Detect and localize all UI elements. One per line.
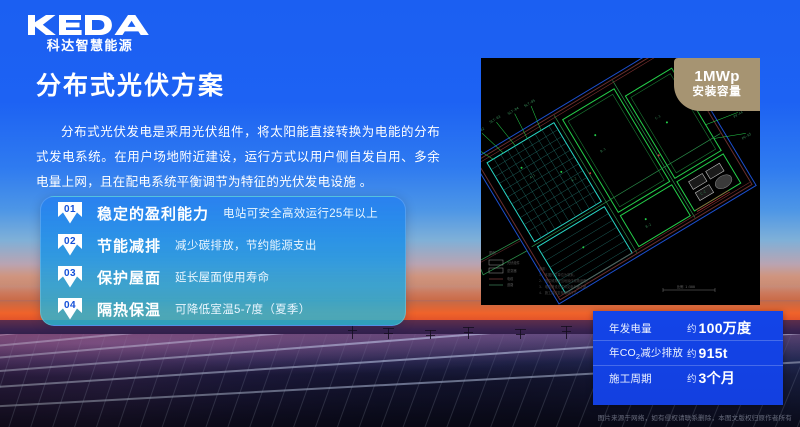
stat-value: 100万度 [699,318,752,338]
feature-number: 01 [57,204,83,215]
watermark-text: 图片来源于网络，如有侵权请联系删除，本图文版权归原作者所有 [598,412,792,422]
feature-row: 02节能减排减少碳排放，节约能源支出 [41,229,405,261]
svg-text:2. 组件倾角按当地最佳倾角设置。: 2. 组件倾角按当地最佳倾角设置。 [539,278,589,283]
pylon-icon [468,327,469,339]
stat-row: 施工周期约3个月 [593,366,783,390]
feature-title: 保护屋面 [97,267,161,288]
svg-text:图例: 图例 [489,250,496,255]
svg-text:道路: 道路 [507,282,514,287]
cad-site-plan[interactable]: SLT-01SLT-02 SLT-03SLT-04 SLT-05 PV-A1PV… [481,58,760,305]
feature-number-badge-icon: 04 [57,297,83,321]
feature-row: 01稳定的盈利能力电站可安全高效运行25年以上 [41,197,405,229]
feature-title: 稳定的盈利能力 [97,203,209,224]
svg-text:电缆: 电缆 [507,276,514,281]
feature-number: 03 [57,268,83,279]
svg-text:光伏组件: 光伏组件 [507,260,521,265]
svg-text:4. 施工前应复核现场尺寸。: 4. 施工前应复核现场尺寸。 [539,290,580,295]
page-title: 分布式光伏方案 [36,73,225,101]
feature-desc: 延长屋面使用寿命 [175,269,269,285]
feature-row: 03保护屋面延长屋面使用寿命 [41,261,405,293]
brand-logo: 科达智慧能源 [26,12,154,52]
stat-approx-prefix: 约 [687,321,697,335]
stat-value: 3个月 [699,368,736,388]
capacity-value: 1MWp [694,69,739,86]
stat-row: 年发电量约100万度 [593,316,783,341]
stat-label: 年发电量 [609,321,687,336]
feature-desc: 可降低室温5-7度（夏季） [175,301,311,317]
feature-number: 02 [57,236,83,247]
feature-title: 隔热保温 [97,299,161,320]
pylon-icon [566,326,567,339]
svg-text:逆变器: 逆变器 [507,268,517,273]
pylon-icon [520,329,521,339]
svg-text:1. 本图尺寸单位为毫米。: 1. 本图尺寸单位为毫米。 [539,272,577,277]
brand-logo-subtitle: 科达智慧能源 [26,39,154,52]
capacity-label: 安装容量 [692,85,741,100]
stats-panel: 年发电量约100万度年CO2减少排放约915t施工周期约3个月 [593,311,783,405]
keda-logo-icon [26,12,154,38]
svg-text:3. 电缆敷设方式详见电气施工图。: 3. 电缆敷设方式详见电气施工图。 [539,284,589,289]
slide-root: 科达智慧能源 分布式光伏方案 分布式光伏发电是采用光伏组件，将太阳能直接转换为电… [0,0,800,427]
stat-label: 施工周期 [609,371,687,386]
svg-text:比例 1:500: 比例 1:500 [677,284,695,289]
stat-value: 915t [699,345,728,361]
svg-text:说明：: 说明： [539,266,549,271]
stat-approx-prefix: 约 [687,371,697,385]
feature-list-card: 01稳定的盈利能力电站可安全高效运行25年以上02节能减排减少碳排放，节约能源支… [40,196,406,326]
pylon-icon [430,330,431,339]
feature-desc: 减少碳排放，节约能源支出 [175,237,317,253]
feature-row: 04隔热保温可降低室温5-7度（夏季） [41,293,405,325]
feature-number-badge-icon: 01 [57,201,83,225]
pylon-icon [388,328,389,339]
intro-paragraph: 分布式光伏发电是采用光伏组件，将太阳能直接转换为电能的分布式发电系统。在用户场地… [36,120,440,195]
capacity-badge: 1MWp 安装容量 [674,58,760,111]
stat-approx-prefix: 约 [687,346,697,360]
feature-number: 04 [57,300,83,311]
stat-label: 年CO2减少排放 [609,345,687,361]
pylon-icon [352,325,353,339]
stat-row: 年CO2减少排放约915t [593,341,783,366]
feature-number-badge-icon: 02 [57,233,83,257]
feature-desc: 电站可安全高效运行25年以上 [223,205,378,221]
feature-number-badge-icon: 03 [57,265,83,289]
feature-title: 节能减排 [97,235,161,256]
